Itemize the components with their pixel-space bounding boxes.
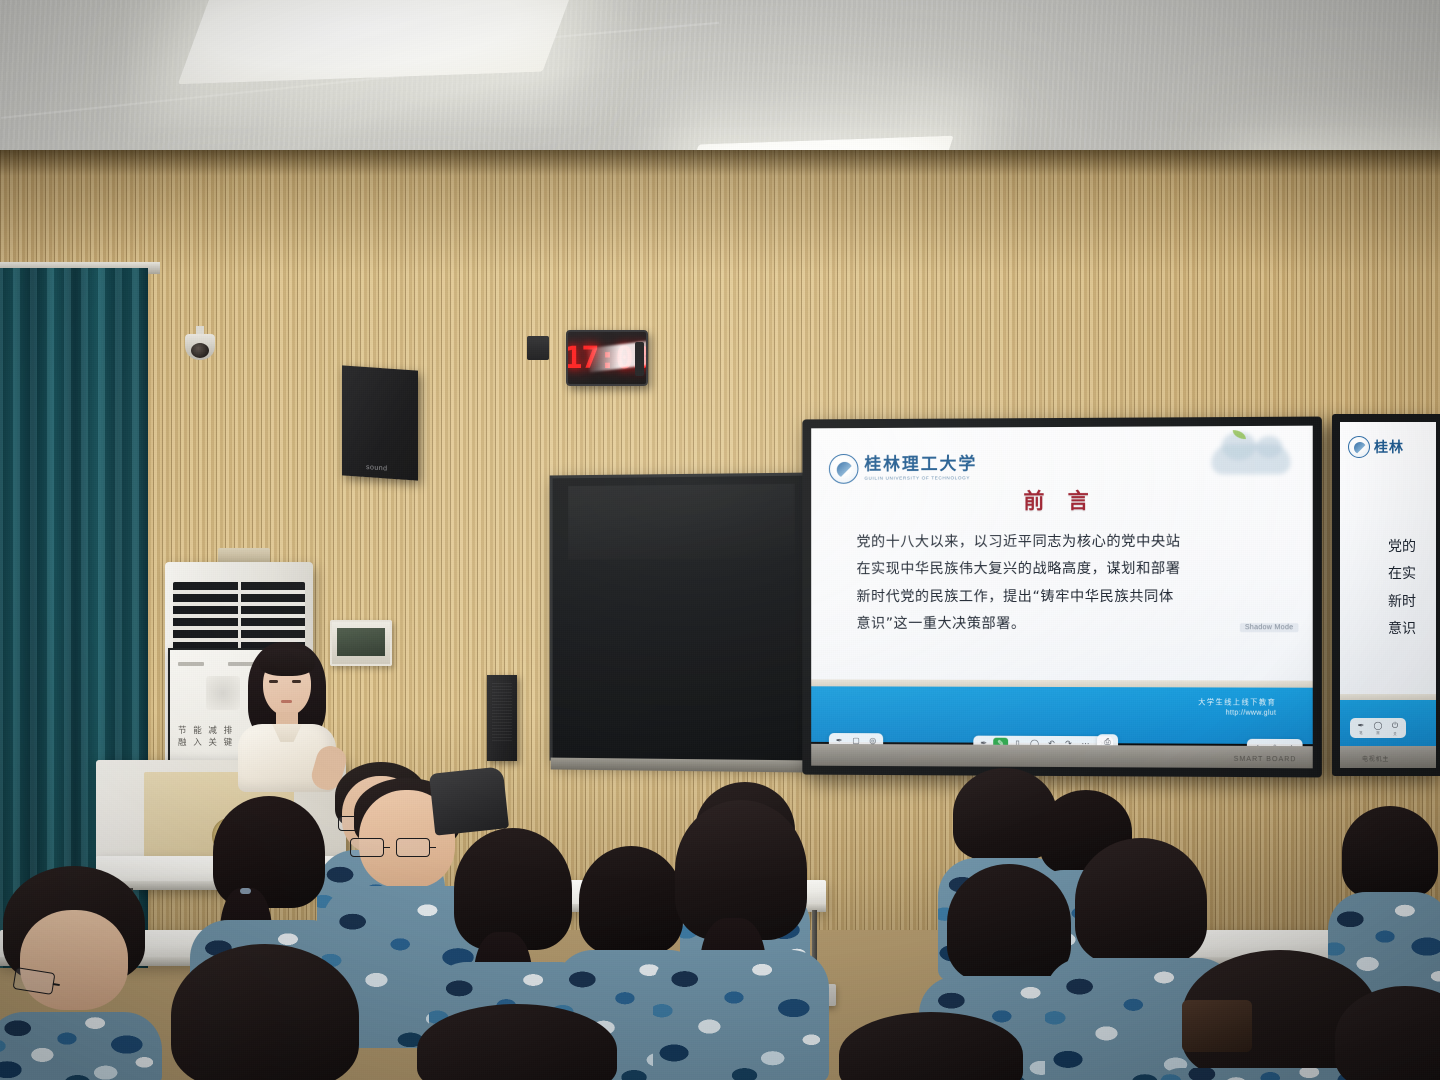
footer-url: http://www.glut	[1198, 708, 1276, 719]
display-bezel: SMART BOARD	[811, 744, 1313, 768]
column-speaker	[487, 675, 517, 761]
student	[1330, 986, 1440, 1080]
classroom-photo: sound 17:03 桂林理工大学 GUILIN UNIVERSITY OF …	[0, 0, 1440, 1080]
student-hair	[1342, 806, 1438, 898]
poster-line: 融 入 关 键	[178, 737, 234, 750]
slide-body-line: 意识”这一重大决策部署。	[856, 611, 1274, 639]
wall-top-shadow	[0, 150, 1440, 176]
student-head	[20, 910, 128, 1010]
secondary-body-line: 党的	[1388, 534, 1440, 561]
slide-body-line: 新时代党的民族工作，提出“铸牢中华民族共同体	[856, 583, 1274, 610]
presenter-eye	[292, 680, 301, 683]
secondary-smart-board[interactable]: 桂林 党的 在实 新时 意识 ✒笔 ◯擦 ⏻关 电视机主	[1332, 414, 1440, 776]
university-seal-icon	[1348, 436, 1370, 458]
poster-text: 节 能 减 排 融 入 关 键	[178, 725, 234, 751]
secondary-toolbar[interactable]: ✒笔 ◯擦 ⏻关	[1350, 718, 1406, 738]
logo-english-name: GUILIN UNIVERSITY OF TECHNOLOGY	[864, 475, 977, 480]
student	[826, 1012, 1036, 1080]
student-hair	[1335, 986, 1440, 1080]
wall-sensor-box	[527, 336, 549, 360]
student-hair	[417, 1004, 617, 1080]
hair-tie	[240, 888, 251, 894]
slide-body-line: 在实现中华民族伟大复兴的战略高度，谋划和部署	[856, 556, 1274, 584]
presenter-fringe	[259, 648, 315, 676]
student-hair	[839, 1012, 1023, 1080]
footer-org-line: 大学生线上线下教育	[1198, 697, 1276, 708]
slide-title: 前 言	[811, 484, 1313, 516]
secondary-body-text: 党的 在实 新时 意识	[1388, 534, 1440, 643]
student-hair	[171, 944, 359, 1080]
university-logo: 桂林理工大学 GUILIN UNIVERSITY OF TECHNOLOGY	[829, 453, 977, 483]
chalkboard	[550, 473, 814, 764]
presenter-mouth	[281, 700, 292, 703]
student	[402, 1004, 632, 1080]
student-uniform	[0, 1012, 162, 1080]
slide-footer-text: 大学生线上线下教育 http://www.glut	[1198, 697, 1276, 719]
student-hair	[213, 796, 325, 908]
slide-body-line: 党的十八大以来，以习近平同志为核心的党中央站	[856, 529, 1274, 557]
student-hair	[1075, 838, 1207, 964]
secondary-slide: 桂林 党的 在实 新时 意识 ✒笔 ◯擦 ⏻关	[1340, 422, 1436, 746]
board-glint	[568, 484, 795, 559]
presenter-eye	[269, 680, 278, 683]
led-wall-clock: 17:03	[566, 330, 648, 386]
student-uniform	[653, 950, 829, 1080]
logo-chinese-name: 桂林理工大学	[864, 456, 977, 473]
secondary-display-bezel: 电视机主	[1340, 746, 1436, 768]
secondary-logo: 桂林	[1348, 436, 1404, 458]
student	[0, 866, 162, 1080]
wall-speaker: sound	[342, 365, 418, 480]
display-brand-label: SMART BOARD	[1234, 756, 1297, 763]
student	[150, 944, 380, 1080]
secondary-body-line: 新时	[1388, 589, 1440, 616]
secondary-logo-name: 桂林	[1374, 437, 1404, 457]
chair-back	[429, 766, 509, 835]
secondary-body-line: 意识	[1388, 616, 1440, 643]
bag-object	[1182, 1000, 1252, 1052]
cloud-decoration-icon	[1212, 444, 1291, 475]
pen-icon[interactable]: ✒笔	[1354, 720, 1368, 736]
university-seal-icon	[829, 454, 859, 484]
presentation-slide: 桂林理工大学 GUILIN UNIVERSITY OF TECHNOLOGY 前…	[811, 426, 1313, 744]
clock-side-panel	[635, 342, 644, 376]
eyeglasses	[396, 838, 430, 857]
power-icon[interactable]: ⏻关	[1388, 720, 1402, 736]
eyeglasses	[350, 838, 384, 857]
speaker-brand-label: sound	[366, 464, 388, 473]
secondary-display-brand: 电视机主	[1362, 754, 1389, 763]
secondary-body-line: 在实	[1388, 561, 1440, 588]
shadow-mode-watermark: Shadow Mode	[1240, 623, 1299, 632]
poster-line: 节 能 减 排	[178, 725, 234, 738]
dome-security-camera-icon	[185, 334, 215, 360]
ceiling-light-panel	[178, 0, 575, 84]
eraser-icon[interactable]: ◯擦	[1371, 720, 1385, 736]
student	[656, 800, 826, 1080]
slide-body-text: 党的十八大以来，以习近平同志为核心的党中央站 在实现中华民族伟大复兴的战略高度，…	[856, 529, 1274, 639]
interactive-smart-board[interactable]: 桂林理工大学 GUILIN UNIVERSITY OF TECHNOLOGY 前…	[802, 417, 1322, 778]
